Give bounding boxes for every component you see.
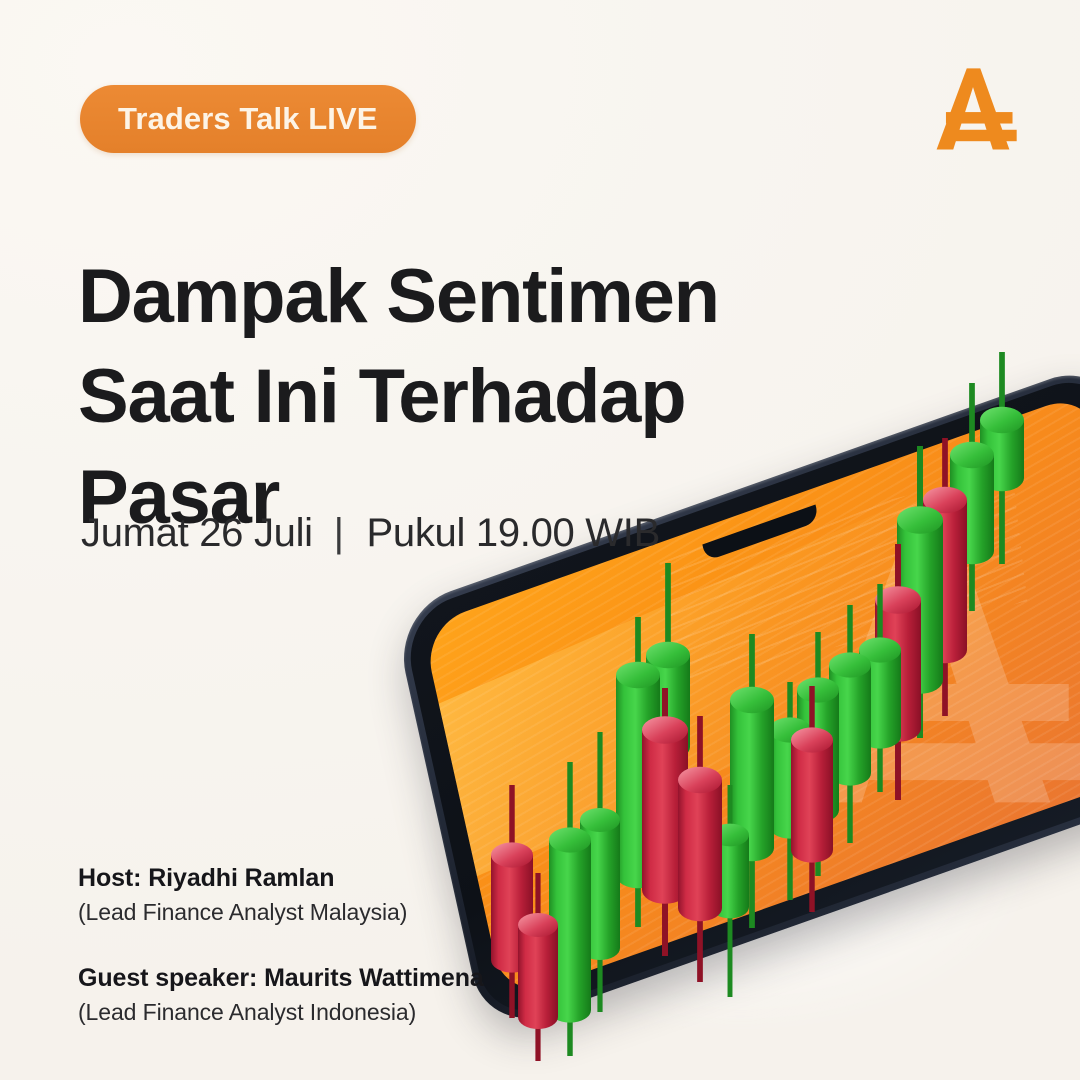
schedule-date: Jumat 26 Juli xyxy=(81,511,313,555)
guest-credit: Guest speaker: Maurits Wattimena (Lead F… xyxy=(78,964,484,1026)
live-badge-label: Traders Talk LIVE xyxy=(118,101,378,137)
guest-name: Guest speaker: Maurits Wattimena xyxy=(78,964,484,993)
host-credit: Host: Riyadhi Ramlan (Lead Finance Analy… xyxy=(78,864,484,926)
host-role: (Lead Finance Analyst Malaysia) xyxy=(78,899,484,926)
promo-poster: Traders Talk LIVE Dampak Sentimen Saat I… xyxy=(0,0,1080,1080)
credits-block: Host: Riyadhi Ramlan (Lead Finance Analy… xyxy=(78,864,484,1026)
host-name: Host: Riyadhi Ramlan xyxy=(78,864,484,893)
live-badge[interactable]: Traders Talk LIVE xyxy=(80,85,416,153)
page-title: Dampak Sentimen Saat Ini Terhadap Pasar xyxy=(78,247,838,548)
brand-logo-icon xyxy=(921,58,1025,162)
schedule-line: Jumat 26 Juli | Pukul 19.00 WIB xyxy=(81,511,660,556)
headline-line-1: Dampak Sentimen xyxy=(78,247,838,347)
schedule-time: Pukul 19.00 WIB xyxy=(367,511,660,555)
schedule-separator: | xyxy=(334,511,344,556)
guest-role: (Lead Finance Analyst Indonesia) xyxy=(78,999,484,1026)
headline-line-2: Saat Ini Terhadap xyxy=(78,347,838,447)
